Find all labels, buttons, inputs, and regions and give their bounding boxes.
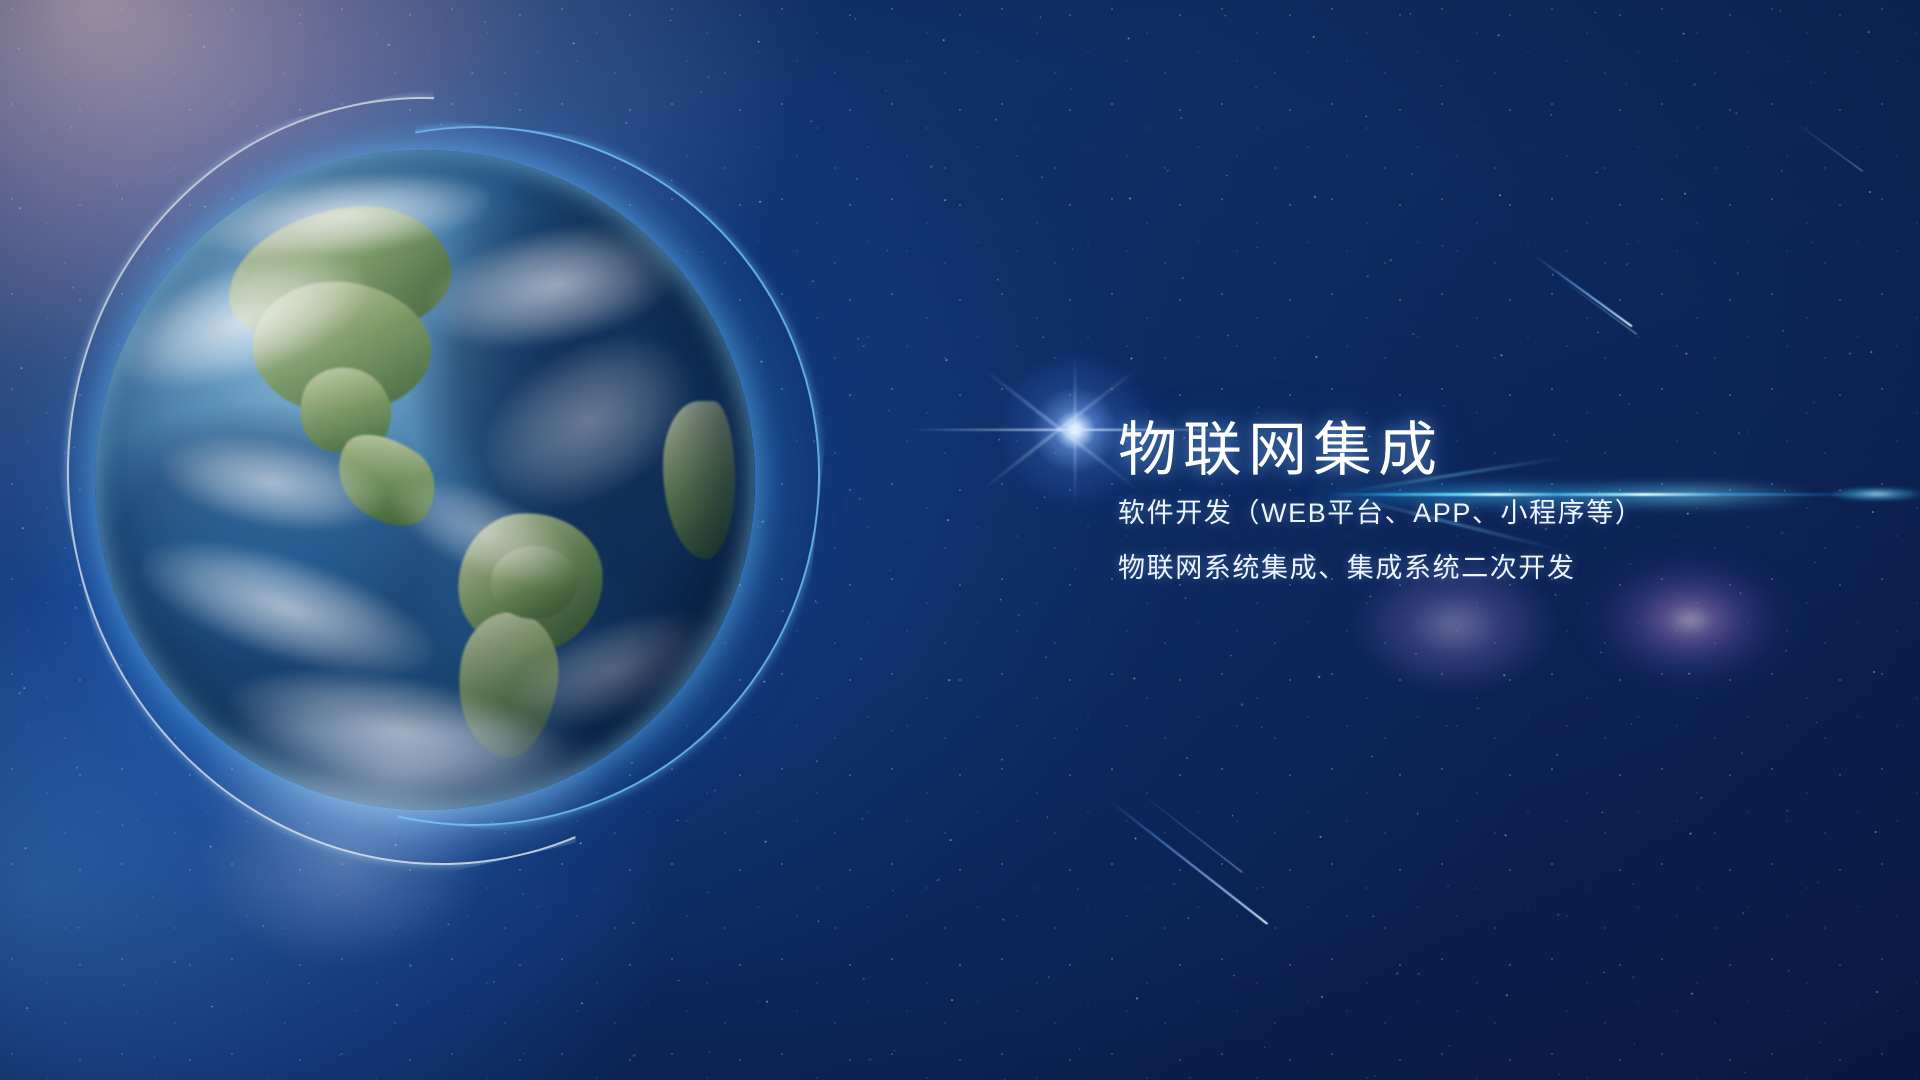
lens-flare-spike-b (981, 367, 1140, 492)
meteor-far-right (1790, 118, 1864, 172)
page-title: 物联网集成 (1118, 420, 1838, 482)
earth-globe (95, 150, 755, 810)
hero-text-block: 物联网集成 软件开发（WEB平台、APP、小程序等） 物联网系统集成、集成系统二… (1118, 420, 1838, 582)
hero-subtitle-line-2: 物联网系统集成、集成系统二次开发 (1118, 555, 1838, 582)
hero-subtitle-line-1: 软件开发（WEB平台、APP、小程序等） (1118, 500, 1838, 527)
hero-banner: 物联网集成 软件开发（WEB平台、APP、小程序等） 物联网系统集成、集成系统二… (0, 0, 1920, 1080)
meteor-lower-mid-2 (1140, 792, 1243, 873)
globe-sphere (95, 150, 755, 810)
meteor-top-right-2 (1560, 278, 1638, 335)
meteor-lower-mid (1109, 800, 1268, 925)
lens-flare-spike-a (981, 367, 1140, 492)
meteor-top-right (1534, 255, 1632, 327)
cyan-flare-dot (1832, 487, 1920, 501)
globe-atmosphere-rim (95, 150, 755, 810)
